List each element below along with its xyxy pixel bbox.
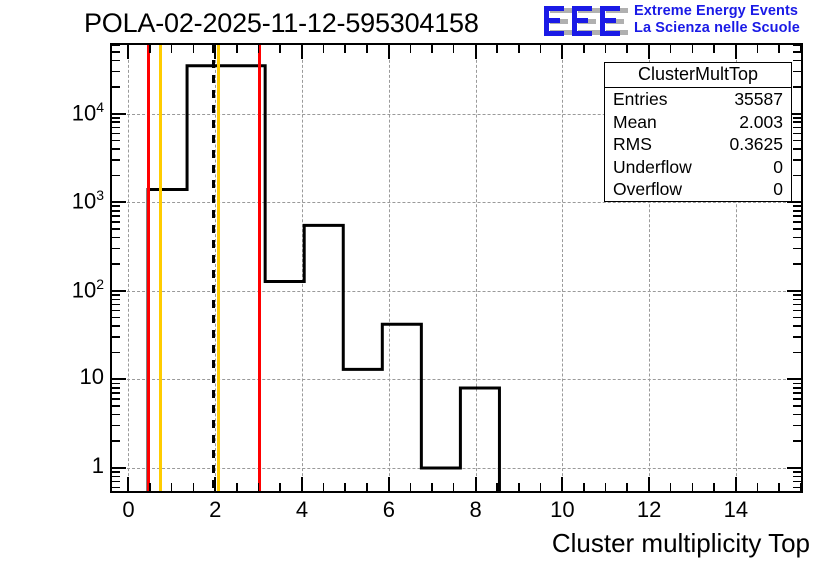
axis-tick bbox=[279, 483, 281, 491]
axis-tick bbox=[193, 45, 195, 53]
axis-tick bbox=[793, 121, 801, 123]
axis-tick bbox=[258, 483, 260, 491]
axis-tick bbox=[561, 45, 563, 59]
axis-tick bbox=[112, 425, 120, 427]
axis-tick bbox=[518, 45, 520, 53]
root-canvas: POLA-02-2025-11-12-595304158 bbox=[0, 0, 836, 572]
axis-tick bbox=[366, 45, 368, 53]
x-axis-tick-label: 12 bbox=[637, 497, 661, 523]
axis-tick bbox=[793, 237, 801, 239]
axis-tick bbox=[279, 45, 281, 53]
axis-tick bbox=[793, 117, 801, 119]
axis-tick bbox=[561, 477, 563, 491]
axis-tick bbox=[540, 45, 542, 53]
axis-tick bbox=[453, 45, 455, 53]
axis-tick bbox=[670, 45, 672, 53]
axis-tick bbox=[453, 483, 455, 491]
axis-tick bbox=[112, 121, 120, 123]
axis-tick bbox=[757, 483, 759, 491]
stats-row-key: Overflow bbox=[611, 178, 682, 201]
stats-row-key: Underflow bbox=[611, 156, 692, 179]
axis-tick bbox=[112, 317, 120, 319]
eee-logo-icon bbox=[542, 4, 630, 40]
axis-tick bbox=[149, 483, 151, 491]
stats-row-value: 0 bbox=[773, 156, 785, 179]
axis-tick bbox=[605, 45, 607, 53]
axis-tick bbox=[793, 471, 801, 473]
axis-tick bbox=[793, 299, 801, 301]
axis-tick bbox=[149, 45, 151, 53]
axis-tick bbox=[112, 440, 120, 442]
axis-tick bbox=[171, 483, 173, 491]
axis-tick bbox=[793, 86, 801, 88]
axis-tick bbox=[787, 467, 801, 469]
axis-tick bbox=[112, 86, 120, 88]
axis-tick bbox=[793, 205, 801, 207]
axis-tick bbox=[323, 483, 325, 491]
axis-tick bbox=[793, 148, 801, 150]
axis-tick bbox=[410, 45, 412, 53]
axis-tick bbox=[112, 392, 120, 394]
axis-tick bbox=[344, 483, 346, 491]
axis-tick bbox=[112, 325, 120, 327]
axis-tick bbox=[410, 483, 412, 491]
axis-tick bbox=[171, 45, 173, 53]
y-axis-tick-label: 102 bbox=[72, 276, 104, 303]
axis-tick bbox=[793, 140, 801, 142]
axis-tick bbox=[496, 45, 498, 53]
axis-tick bbox=[793, 51, 801, 53]
axis-tick bbox=[236, 483, 238, 491]
axis-tick bbox=[112, 205, 120, 207]
axis-tick bbox=[388, 45, 390, 59]
axis-tick bbox=[793, 425, 801, 427]
stats-row: RMS0.3625 bbox=[605, 133, 791, 156]
stats-row: Overflow0 bbox=[605, 178, 791, 201]
axis-tick bbox=[431, 45, 433, 53]
stats-row: Mean2.003 bbox=[605, 111, 791, 134]
axis-tick bbox=[112, 294, 120, 296]
axis-tick bbox=[112, 237, 120, 239]
axis-tick bbox=[793, 221, 801, 223]
axis-tick bbox=[540, 483, 542, 491]
axis-tick bbox=[112, 290, 126, 292]
axis-tick bbox=[793, 414, 801, 416]
x-axis-tick-label: 10 bbox=[550, 497, 574, 523]
axis-tick bbox=[112, 263, 120, 265]
axis-tick bbox=[793, 294, 801, 296]
stats-row-key: RMS bbox=[611, 133, 652, 156]
axis-tick bbox=[323, 45, 325, 53]
stats-rows: Entries35587Mean2.003RMS0.3625Underflow0… bbox=[605, 88, 791, 201]
stats-row-value: 35587 bbox=[734, 88, 785, 111]
axis-tick bbox=[793, 133, 801, 135]
axis-tick bbox=[112, 148, 120, 150]
axis-tick bbox=[301, 477, 303, 491]
axis-tick bbox=[793, 440, 801, 442]
axis-tick bbox=[112, 304, 120, 306]
axis-tick bbox=[778, 483, 780, 491]
axis-tick bbox=[793, 60, 801, 62]
axis-tick bbox=[626, 45, 628, 53]
axis-tick bbox=[735, 477, 737, 491]
axis-tick bbox=[127, 477, 129, 491]
axis-tick bbox=[344, 45, 346, 53]
axis-tick bbox=[112, 71, 120, 73]
stats-row-key: Mean bbox=[611, 111, 657, 134]
stats-row-value: 0.3625 bbox=[729, 133, 785, 156]
axis-tick bbox=[793, 383, 801, 385]
axis-tick bbox=[366, 483, 368, 491]
axis-tick bbox=[793, 215, 801, 217]
axis-tick bbox=[127, 45, 129, 59]
axis-tick bbox=[793, 476, 801, 478]
axis-tick bbox=[793, 398, 801, 400]
axis-tick bbox=[626, 483, 628, 491]
axis-tick bbox=[112, 378, 126, 380]
y-axis-tick-label: 10 bbox=[80, 364, 104, 390]
axis-tick bbox=[236, 45, 238, 53]
stats-box: ClusterMultTop Entries35587Mean2.003RMS0… bbox=[604, 62, 792, 202]
axis-tick bbox=[112, 336, 120, 338]
axis-tick bbox=[648, 45, 650, 59]
axis-tick bbox=[193, 483, 195, 491]
axis-tick bbox=[793, 336, 801, 338]
axis-tick bbox=[793, 387, 801, 389]
axis-tick bbox=[793, 317, 801, 319]
axis-tick bbox=[793, 392, 801, 394]
axis-tick bbox=[692, 45, 694, 53]
eee-logo-line1: Extreme Energy Events bbox=[634, 3, 800, 20]
axis-tick bbox=[605, 483, 607, 491]
axis-tick bbox=[735, 45, 737, 59]
axis-tick bbox=[301, 45, 303, 59]
axis-tick bbox=[583, 483, 585, 491]
eee-logo: Extreme Energy Events La Scienza nelle S… bbox=[542, 2, 834, 42]
axis-tick bbox=[713, 45, 715, 53]
axis-tick bbox=[112, 476, 120, 478]
axis-tick bbox=[713, 483, 715, 491]
axis-tick bbox=[793, 71, 801, 73]
eee-logo-text: Extreme Energy Events La Scienza nelle S… bbox=[634, 3, 800, 37]
axis-tick bbox=[112, 352, 120, 354]
axis-tick bbox=[475, 45, 477, 59]
axis-tick bbox=[583, 45, 585, 53]
axis-tick bbox=[793, 159, 801, 161]
axis-tick bbox=[112, 159, 120, 161]
axis-tick bbox=[112, 117, 120, 119]
axis-tick bbox=[793, 228, 801, 230]
axis-tick bbox=[112, 113, 126, 115]
axis-tick bbox=[475, 477, 477, 491]
axis-tick bbox=[793, 304, 801, 306]
axis-tick bbox=[793, 263, 801, 265]
axis-tick bbox=[112, 383, 120, 385]
y-axis-tick-label: 1 bbox=[92, 453, 104, 479]
axis-tick bbox=[112, 487, 120, 489]
axis-tick bbox=[112, 387, 120, 389]
axis-tick bbox=[112, 471, 120, 473]
axis-tick bbox=[112, 481, 120, 483]
x-axis-tick-label: 8 bbox=[469, 497, 481, 523]
axis-tick bbox=[787, 290, 801, 292]
axis-tick bbox=[112, 467, 126, 469]
axis-tick bbox=[112, 414, 120, 416]
y-axis-tick-label: 104 bbox=[72, 99, 104, 126]
stats-row-value: 2.003 bbox=[739, 111, 785, 134]
axis-tick bbox=[648, 477, 650, 491]
axis-tick bbox=[112, 201, 126, 203]
axis-tick bbox=[518, 483, 520, 491]
axis-tick bbox=[793, 210, 801, 212]
axis-tick bbox=[793, 44, 801, 46]
page-title: POLA-02-2025-11-12-595304158 bbox=[84, 8, 479, 39]
axis-tick bbox=[388, 477, 390, 491]
axis-tick bbox=[112, 221, 120, 223]
axis-tick bbox=[778, 45, 780, 53]
axis-tick bbox=[112, 210, 120, 212]
x-axis-tick-label: 6 bbox=[383, 497, 395, 523]
axis-tick bbox=[112, 127, 120, 129]
axis-tick bbox=[214, 477, 216, 491]
axis-tick bbox=[793, 405, 801, 407]
axis-tick bbox=[112, 228, 120, 230]
axis-tick bbox=[112, 299, 120, 301]
axis-tick bbox=[793, 248, 801, 250]
axis-tick bbox=[793, 325, 801, 327]
axis-tick bbox=[112, 405, 120, 407]
stats-row: Entries35587 bbox=[605, 88, 791, 111]
axis-tick bbox=[112, 60, 120, 62]
axis-tick bbox=[112, 215, 120, 217]
axis-tick bbox=[670, 483, 672, 491]
axis-tick bbox=[496, 483, 498, 491]
axis-tick bbox=[793, 175, 801, 177]
axis-tick bbox=[793, 352, 801, 354]
axis-tick bbox=[214, 45, 216, 59]
stats-row-key: Entries bbox=[611, 88, 667, 111]
axis-tick bbox=[112, 51, 120, 53]
axis-tick bbox=[787, 201, 801, 203]
stats-row: Underflow0 bbox=[605, 156, 791, 179]
axis-tick bbox=[112, 140, 120, 142]
y-axis-tick-label: 103 bbox=[72, 187, 104, 214]
eee-logo-line2: La Scienza nelle Scuole bbox=[634, 20, 800, 37]
axis-tick bbox=[112, 44, 120, 46]
x-axis-title: Cluster multiplicity Top bbox=[552, 528, 810, 559]
axis-tick bbox=[793, 487, 801, 489]
axis-tick bbox=[793, 127, 801, 129]
x-axis-tick-label: 14 bbox=[724, 497, 748, 523]
axis-tick bbox=[787, 378, 801, 380]
axis-tick bbox=[112, 175, 120, 177]
axis-tick bbox=[692, 483, 694, 491]
axis-tick bbox=[793, 481, 801, 483]
axis-tick bbox=[112, 310, 120, 312]
x-axis-tick-label: 4 bbox=[296, 497, 308, 523]
axis-tick bbox=[112, 248, 120, 250]
axis-tick bbox=[757, 45, 759, 53]
axis-tick bbox=[793, 310, 801, 312]
x-axis-tick-label: 2 bbox=[209, 497, 221, 523]
stats-row-value: 0 bbox=[773, 178, 785, 201]
axis-tick bbox=[431, 483, 433, 491]
x-axis-tick-label: 0 bbox=[122, 497, 134, 523]
axis-tick bbox=[112, 133, 120, 135]
axis-tick bbox=[258, 45, 260, 53]
axis-tick bbox=[112, 398, 120, 400]
stats-title: ClusterMultTop bbox=[605, 63, 791, 88]
